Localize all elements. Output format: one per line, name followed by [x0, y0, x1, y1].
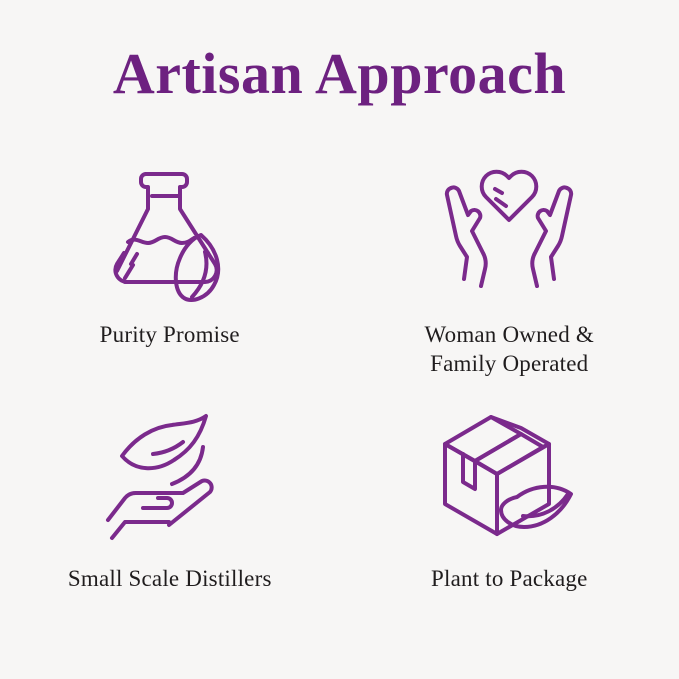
hand-holding-leaf-icon [90, 408, 250, 548]
feature-grid: Purity Promise [0, 150, 679, 650]
feature-label-line1: Small Scale Distillers [68, 566, 272, 591]
feature-label-small-scale-distillers: Small Scale Distillers [68, 564, 272, 593]
flask-leaf-icon [90, 158, 250, 308]
feature-item-small-scale-distillers: Small Scale Distillers [0, 400, 340, 650]
feature-label-purity-promise: Purity Promise [100, 320, 240, 349]
feature-item-purity-promise: Purity Promise [0, 150, 340, 400]
feature-item-woman-owned: Woman Owned & Family Operated [340, 150, 679, 400]
hands-holding-heart-icon [429, 158, 589, 308]
feature-label-line1: Plant to Package [431, 566, 588, 591]
feature-label-line1: Woman Owned & [425, 322, 594, 347]
feature-label-woman-owned: Woman Owned & Family Operated [425, 320, 594, 379]
artisan-approach-panel: Artisan Approach [0, 0, 679, 679]
feature-label-line1: Purity Promise [100, 322, 240, 347]
feature-item-plant-to-package: Plant to Package [340, 400, 679, 650]
page-title: Artisan Approach [0, 44, 679, 105]
feature-label-line2: Family Operated [425, 349, 594, 378]
feature-label-plant-to-package: Plant to Package [431, 564, 588, 593]
package-box-leaf-icon [429, 408, 589, 548]
